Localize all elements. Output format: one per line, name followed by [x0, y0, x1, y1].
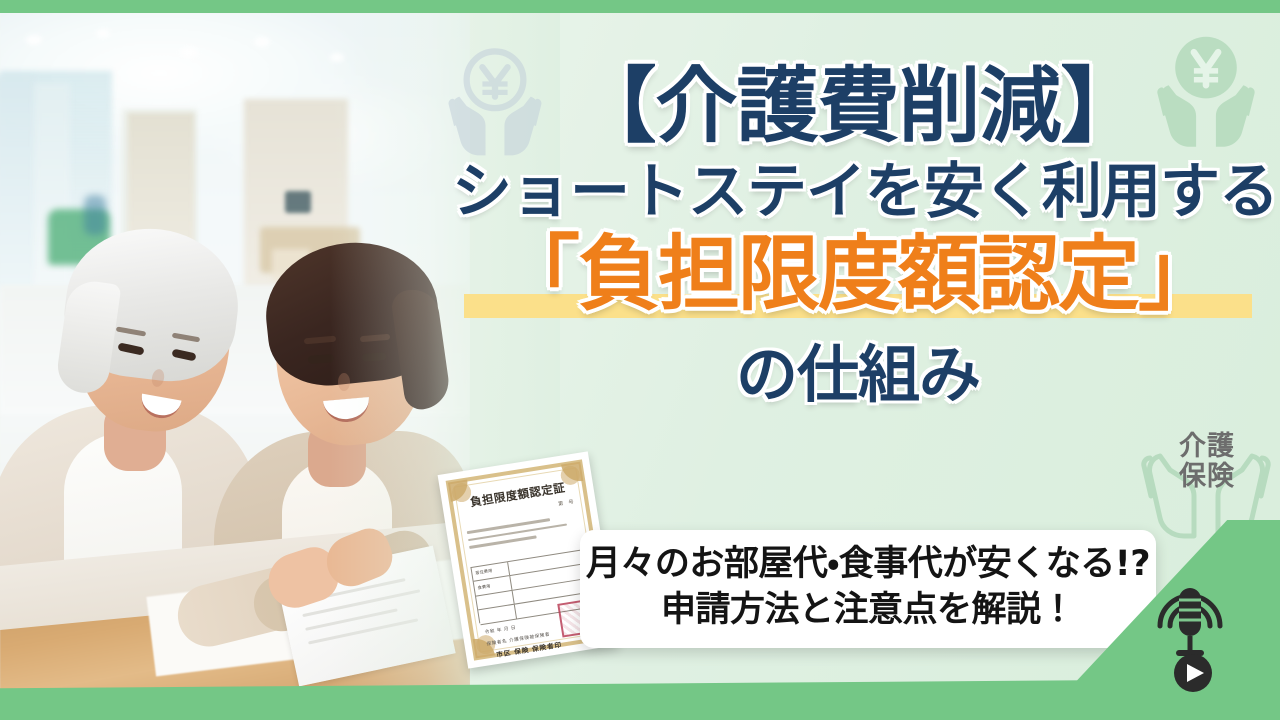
insurance-watermark-label: 介護 保険	[1160, 432, 1254, 492]
podcast-microphone-icon	[1160, 588, 1220, 656]
photo-ceiling-light-1	[26, 35, 42, 45]
title-line-3: 「負担限度額認定」	[452, 234, 1264, 316]
subtitle-bubble: 月々のお部屋代・食事代が安くなる!? 申請方法と注意点を解説！	[580, 530, 1156, 648]
photo-ceiling-light-4	[254, 37, 270, 47]
title-line-2: ショートステイを安く利用する	[452, 162, 1264, 222]
insurance-label-line2: 保険	[1160, 462, 1254, 492]
subtitle-line-1: 月々のお部屋代・食事代が安くなる!?	[580, 542, 1156, 588]
photo-wall-tv	[285, 191, 311, 213]
photo-ceiling-light-2	[96, 29, 110, 38]
photo-ceiling-light-3	[180, 47, 198, 58]
title-line-4: の仕組み	[452, 344, 1264, 406]
subtitle-text: 月々のお部屋代・食事代が安くなる!? 申請方法と注意点を解説！	[580, 542, 1156, 633]
photo-door-left	[0, 75, 36, 290]
photo-seated-person	[84, 195, 106, 235]
title-line-1: 【介護費削減】	[452, 66, 1264, 148]
insurance-label-line1: 介護	[1160, 432, 1254, 462]
subtitle-line-2: 申請方法と注意点を解説！	[580, 588, 1156, 634]
bottom-green-band	[0, 692, 1280, 720]
podcast-badge	[1138, 568, 1242, 694]
certificate-row-label: 居住費用	[475, 568, 493, 577]
thumbnail-canvas: 介護 保険 【介護費削減】 ショートステイを安く利用する 「負担限度額認定」 の…	[0, 0, 1280, 720]
title-block: 【介護費削減】 ショートステイを安く利用する 「負担限度額認定」 の仕組み	[452, 66, 1264, 406]
top-green-band	[0, 0, 1280, 13]
certificate-row-label: 食費用	[477, 583, 491, 591]
play-button-icon	[1174, 654, 1212, 692]
title-line-3-wrap: 「負担限度額認定」	[452, 234, 1264, 328]
